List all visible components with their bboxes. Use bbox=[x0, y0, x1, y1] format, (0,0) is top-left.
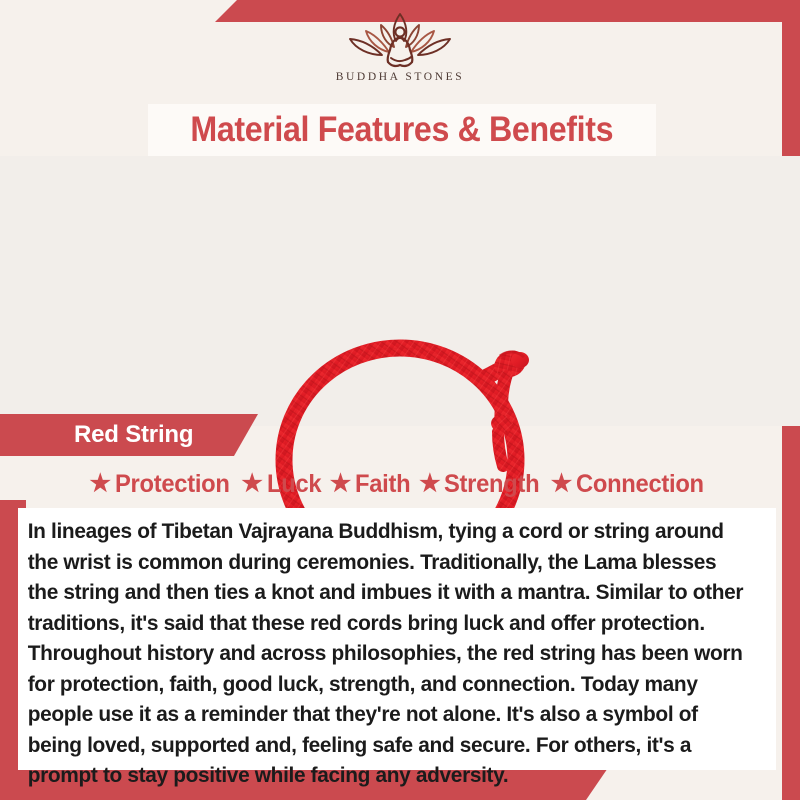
hero-section bbox=[0, 156, 800, 426]
star-icon: ★ bbox=[330, 472, 351, 496]
title-band: Material Features & Benefits bbox=[148, 104, 656, 156]
feature-label: Connection bbox=[576, 470, 704, 499]
infographic-page: BUDDHA STONES Material Features & Benefi… bbox=[0, 0, 800, 800]
brand-wordmark: BUDDHA STONES bbox=[336, 71, 464, 83]
red-string-label: Red String bbox=[74, 421, 193, 449]
feature-item-protection: ★ Protection bbox=[90, 470, 236, 499]
feature-item-connection: ★ Connection bbox=[551, 470, 711, 499]
feature-label: Strength bbox=[444, 470, 539, 499]
star-icon: ★ bbox=[419, 472, 440, 496]
feature-label: Faith bbox=[355, 470, 410, 499]
feature-item-strength: ★ Strength bbox=[419, 470, 545, 499]
description-text: In lineages of Tibetan Vajrayana Buddhis… bbox=[18, 512, 753, 791]
lotus-meditation-icon bbox=[336, 8, 464, 70]
feature-item-luck: ★ Luck bbox=[241, 470, 323, 499]
red-string-banner: Red String bbox=[0, 414, 258, 456]
feature-list: ★ Protection ★ Luck ★ Faith ★ Strength ★… bbox=[0, 462, 800, 506]
star-icon: ★ bbox=[551, 472, 572, 496]
description-panel: In lineages of Tibetan Vajrayana Buddhis… bbox=[18, 508, 776, 770]
feature-label: Protection bbox=[115, 470, 230, 499]
brand-header: BUDDHA STONES bbox=[0, 0, 800, 100]
feature-item-faith: ★ Faith bbox=[330, 470, 413, 499]
feature-label: Luck bbox=[267, 470, 321, 499]
page-title: Material Features & Benefits bbox=[191, 110, 614, 150]
brand-logo: BUDDHA STONES bbox=[0, 8, 800, 83]
star-icon: ★ bbox=[90, 472, 111, 496]
star-icon: ★ bbox=[241, 472, 262, 496]
